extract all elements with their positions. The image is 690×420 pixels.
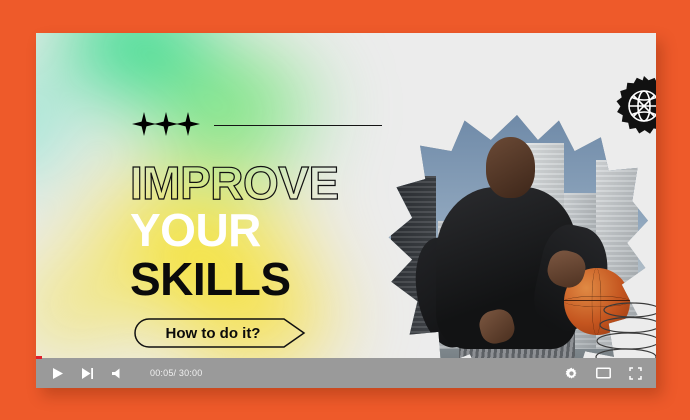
- video-card: IMPROVE YOUR SKILLS How to do it?: [36, 33, 656, 388]
- play-button[interactable]: [46, 362, 68, 384]
- volume-button[interactable]: [106, 362, 128, 384]
- right-controls-group: [560, 362, 646, 384]
- headline-group: IMPROVE YOUR SKILLS: [130, 161, 339, 303]
- athlete-head: [486, 137, 536, 198]
- settings-gear-icon[interactable]: [560, 362, 582, 384]
- headline-line-improve: IMPROVE: [130, 161, 339, 205]
- headline-line-skills: SKILLS: [130, 256, 339, 303]
- miniplayer-button[interactable]: [592, 362, 614, 384]
- sparkle-star-icon: [176, 112, 200, 136]
- next-track-button[interactable]: [76, 362, 98, 384]
- progress-scrubber[interactable]: [36, 356, 656, 359]
- globe-badge-icon: [614, 76, 656, 136]
- time-display: 00:05/ 30:00: [150, 368, 202, 378]
- sparkle-star-icon: [154, 112, 178, 136]
- fullscreen-button[interactable]: [624, 362, 646, 384]
- video-control-bar[interactable]: 00:05/ 30:00: [36, 358, 656, 388]
- progress-fill: [36, 356, 42, 359]
- cta-label: How to do it?: [134, 318, 306, 348]
- how-to-do-it-button[interactable]: How to do it?: [134, 318, 306, 348]
- sparkle-star-icon: [132, 112, 156, 136]
- headline-line-your: YOUR: [130, 207, 339, 254]
- hero-photo: [386, 115, 648, 388]
- horizontal-rule: [214, 125, 382, 126]
